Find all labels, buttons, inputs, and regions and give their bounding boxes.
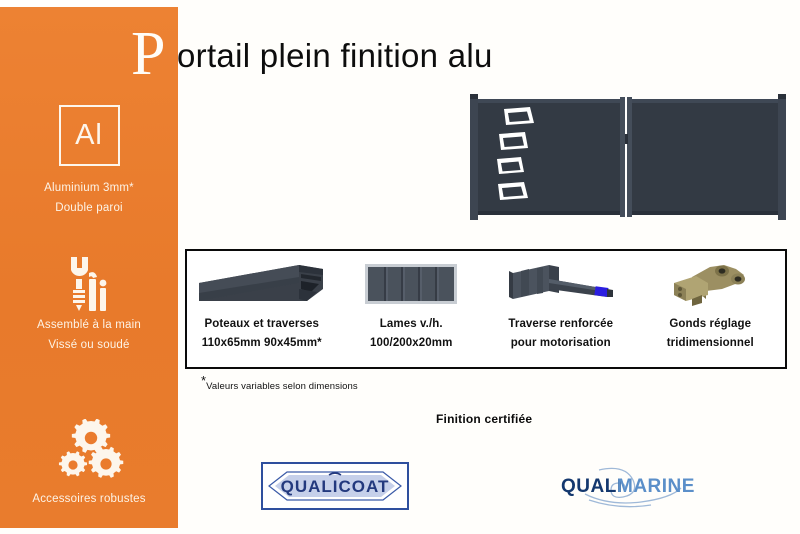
product-item-posts-line1: Poteaux et traverses (204, 318, 319, 330)
sidebar-feature-assembly-line2: Vissé ou soudé (0, 335, 178, 355)
page-title-initial: P (131, 23, 165, 85)
sidebar-feature-aluminium: Al Aluminium 3mm* Double paroi (0, 105, 178, 218)
three-dimensional-hinge-icon (662, 258, 758, 310)
product-item-posts-line2: 110x65mm 90x45mm* (202, 334, 322, 353)
al-symbol-text: Al (75, 121, 103, 150)
sidebar-feature-assembly: Assemblé à la main Vissé ou soudé (0, 253, 178, 355)
sidebar-feature-accessories: Accessoires robustes (0, 417, 178, 509)
certification-heading: Finition certifiée (436, 412, 532, 426)
qualimarine-logo: QUALI MARINE (555, 464, 715, 510)
qualicoat-logo-text: QUALICOAT (281, 477, 390, 496)
product-item-slats-caption: Lames v./h. 100/200x20mm (370, 315, 452, 353)
qualimarine-logo-text-quali: QUALI (561, 476, 623, 497)
product-item-reinforced-crossbar-caption: Traverse renforcée pour motorisation (508, 315, 613, 353)
product-item-reinforced-crossbar: Traverse renforcée pour motorisation (486, 251, 636, 367)
product-item-reinforced-crossbar-line2: pour motorisation (508, 334, 613, 353)
footnote-text: Valeurs variables selon dimensions (206, 381, 358, 392)
product-item-posts-caption: Poteaux et traverses 110x65mm 90x45mm* (202, 315, 322, 353)
gears-icon (0, 417, 178, 483)
sidebar-feature-accessories-line1: Accessoires robustes (0, 489, 178, 509)
poster-page: Al Aluminium 3mm* Double paroi (0, 0, 800, 534)
reinforced-crossbar-icon (503, 258, 619, 310)
aluminium-al-square-icon: Al (59, 105, 120, 166)
wrench-tools-icon (0, 253, 178, 315)
qualimarine-logo-text-marine: MARINE (617, 476, 695, 497)
footnote: *Valeurs variables selon dimensions (201, 381, 358, 392)
qualicoat-logo: QUALICOAT (261, 462, 409, 510)
slats-panel-icon (361, 258, 461, 310)
sidebar-feature-assembly-line1: Assemblé à la main (0, 315, 178, 335)
post-and-crossbar-profile-icon (195, 258, 329, 310)
page-title-rest: ortail plein finition alu (177, 33, 493, 78)
product-item-hinges-line1: Gonds réglage (669, 318, 751, 330)
product-item-slats-line1: Lames v./h. (380, 318, 443, 330)
product-item-hinges-line2: tridimensionnel (667, 334, 754, 353)
product-item-slats: Lames v./h. 100/200x20mm (337, 251, 487, 367)
product-item-hinges: Gonds réglage tridimensionnel (636, 251, 786, 367)
product-item-reinforced-crossbar-line1: Traverse renforcée (508, 318, 613, 330)
product-details-box: Poteaux et traverses 110x65mm 90x45mm* (185, 249, 787, 369)
product-item-slats-line2: 100/200x20mm (370, 334, 452, 353)
sidebar-feature-aluminium-line2: Double paroi (0, 198, 178, 218)
product-item-posts: Poteaux et traverses 110x65mm 90x45mm* (187, 251, 337, 367)
product-item-hinges-caption: Gonds réglage tridimensionnel (667, 315, 754, 353)
sidebar-feature-aluminium-line1: Aluminium 3mm* (0, 178, 178, 198)
gate-illustration (470, 92, 788, 225)
